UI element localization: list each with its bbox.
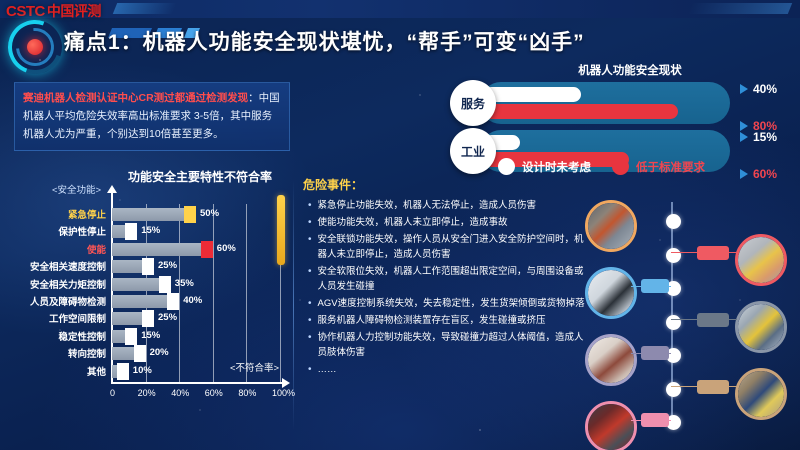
x-tick-label: 0 [110,388,115,398]
status-white-value: 40% [753,82,777,96]
status-red-value: 60% [753,167,777,181]
danger-event-item: •服务机器人障碍物检测装置存在盲区，发生碰撞或挤压 [308,313,590,328]
bullet-icon: • [308,215,312,230]
status-values-industrial: 15% 60% [740,126,800,184]
bar-chart-row: 保护性停止15% [8,223,288,240]
bar-category-label: 人员及障碍物检测 [30,294,106,308]
bar-segment [112,295,167,308]
bar-value-label: 50% [200,208,219,219]
photo-medical-device[interactable] [585,334,637,386]
bar-end-cap [125,223,137,240]
slide-canvas: CSTC中国评测 痛点1：机器人功能安全现状堪忧，“帮手”可变“凶手” 赛迪机器… [0,0,800,450]
emblem-core-dot [27,39,43,55]
page-title: 痛点1：机器人功能安全现状堪忧，“帮手”可变“凶手” [64,26,585,56]
danger-event-text: 使能功能失效，机器人未立即停止，造成事故 [318,215,508,230]
danger-event-text: 紧急停止功能失效，机器人无法停止，造成人员伤害 [318,198,537,213]
photo-image [738,237,784,283]
bar-chart-row: 安全相关速度控制25% [8,258,288,275]
legend-swatch-white [498,158,515,175]
photo-agv-warehouse[interactable] [735,301,787,353]
danger-event-text: 协作机器人力控制功能失效，导致碰撞力超过人体阈值，造成人员肢体伤害 [318,330,590,360]
photo-robot-arm-white[interactable] [585,267,637,319]
triangle-marker-icon [740,169,748,179]
yellow-accent-bar [277,195,285,265]
bar-segment [112,208,184,221]
timeline-connector [631,219,671,220]
bar-end-cap [142,310,154,327]
bar-category-label: 紧急停止 [68,207,106,221]
bar-end-cap [201,241,213,258]
status-chart-title: 机器人功能安全现状 [540,62,720,78]
danger-event-item: •使能功能失效，机器人未立即停止，造成事故 [308,215,590,230]
timeline-connector [671,319,737,320]
status-value-white-service: 40% [740,78,800,99]
x-tick-label: 20% [138,388,156,398]
timeline-node[interactable] [666,315,681,330]
bar-end-cap [117,363,129,380]
bar-chart-row: 安全相关力矩控制35% [8,276,288,293]
photo-timeline [585,192,800,442]
bar-segment [112,260,142,273]
bar-chart: <安全功能> 紧急停止50%保护性停止15%使能60%安全相关速度控制25%安全… [8,182,288,422]
bullet-icon: • [308,330,312,360]
bar-value-label: 20% [150,347,169,358]
bar-category-label: 保护性停止 [58,224,106,238]
logo-chinese-text: 中国评测 [47,3,101,19]
status-value-red-industrial: 60% [740,163,800,184]
bar-chart-row: 紧急停止50% [8,206,288,223]
status-white-bar [484,87,581,102]
header-decoration-left [113,3,177,14]
danger-event-text: …… [318,362,337,377]
bar-chart-y-axis-label: <安全功能> [52,182,101,196]
danger-events-list: •紧急停止功能失效，机器人无法停止，造成人员伤害•使能功能失效，机器人未立即停止… [308,198,590,379]
bar-segment [112,225,125,238]
danger-event-text: 服务机器人障碍物检测装置存在盲区，发生碰撞或挤压 [318,313,546,328]
bar-category-label: 工作空间限制 [49,311,106,325]
bar-end-cap [134,345,146,362]
photo-image [588,337,634,383]
photo-image [588,203,634,249]
danger-event-text: 安全联锁功能失效，操作人员从安全门进入安全防护空间时，机器人未立即停止，造成人员… [318,232,590,262]
x-tick-label: 100% [272,388,295,398]
target-emblem-icon [8,20,62,74]
bar-category-label: 使能 [87,242,106,256]
photo-image [588,404,634,450]
x-tick-label: 40% [171,388,189,398]
bar-chart-row: 稳定性控制15% [8,328,288,345]
danger-event-item: •协作机器人力控制功能失效，导致碰撞力超过人体阈值，造成人员肢体伤害 [308,330,590,360]
timeline-connector [671,386,737,387]
bar-value-label: 35% [175,278,194,289]
photo-machinery-red[interactable] [585,401,637,450]
bullet-icon: • [308,296,312,311]
danger-event-item: •…… [308,362,590,377]
timeline-connector [671,252,737,253]
vertical-divider [293,180,294,430]
bar-end-cap [159,276,171,293]
photo-image [738,304,784,350]
bar-value-label: 15% [141,330,160,341]
bullet-icon: • [308,264,312,294]
danger-event-text: 安全软限位失效，机器人工作范围超出限定空间，与周围设备或人员发生碰撞 [318,264,590,294]
status-row-service: 服务 [450,82,730,124]
bar-end-cap [167,293,179,310]
bar-segment [112,330,125,343]
danger-events-title: 危险事件： [303,176,363,193]
bar-segment [112,312,142,325]
timeline-node[interactable] [666,382,681,397]
bar-segment [112,347,134,360]
danger-event-item: •安全软限位失效，机器人工作范围超出限定空间，与周围设备或人员发生碰撞 [308,264,590,294]
bar-segment [112,278,159,291]
timeline-node[interactable] [666,248,681,263]
bar-value-label: 10% [133,365,152,376]
bar-category-label: 其他 [87,364,106,378]
danger-event-item: •安全联锁功能失效，操作人员从安全门进入安全防护空间时，机器人未立即停止，造成人… [308,232,590,262]
danger-event-text: AGV速度控制系统失效，失去稳定性，发生货架倾倒或货物掉落 [318,296,585,311]
bar-value-label: 40% [183,295,202,306]
danger-event-item: •紧急停止功能失效，机器人无法停止，造成人员伤害 [308,198,590,213]
danger-event-item: •AGV速度控制系统失效，失去稳定性，发生货架倾倒或货物掉落 [308,296,590,311]
callout-highlight: 赛迪机器人检测认证中心CR测过都通过检测发现 [23,92,248,104]
legend-label-not-considered: 设计时未考虑 [522,159,591,175]
x-tick-label: 80% [238,388,256,398]
legend-label-below-standard: 低于标准要求 [636,159,705,175]
bar-chart-row: 人员及障碍物检测40% [8,293,288,310]
photo-hand-tool[interactable] [735,234,787,286]
bar-value-label: 25% [158,312,177,323]
callout-box: 赛迪机器人检测认证中心CR测过都通过检测发现：中国机器人平均危险失效率高出标准要… [14,82,290,151]
photo-service-robot[interactable] [735,368,787,420]
timeline-connector [631,420,671,421]
bar-chart-row: 工作空间限制25% [8,310,288,327]
bar-segment [112,243,201,256]
bar-category-label: 稳定性控制 [58,329,106,343]
bar-end-cap [184,206,196,223]
status-red-bar [484,104,678,119]
bullet-icon: • [308,362,312,377]
bar-value-label: 15% [141,225,160,236]
photo-image [738,371,784,417]
bar-category-label: 转向控制 [68,346,106,360]
bar-category-label: 安全相关速度控制 [30,259,106,273]
status-chart-legend: 设计时未考虑 低于标准要求 [498,158,705,175]
bar-end-cap [125,328,137,345]
triangle-marker-icon [740,132,748,142]
bar-chart-row: 使能60% [8,241,288,258]
bullet-icon: • [308,232,312,262]
x-tick-label: 60% [205,388,223,398]
bar-value-label: 60% [217,243,236,254]
timeline-connector [631,353,671,354]
status-value-white-industrial: 15% [740,126,800,147]
status-row-label-industrial: 工业 [450,128,496,174]
triangle-marker-icon [740,84,748,94]
legend-swatch-red [612,158,629,175]
photo-robot-cell[interactable] [585,200,637,252]
header-decoration-right [688,3,792,14]
bullet-icon: • [308,198,312,213]
bar-chart-x-axis [111,382,283,384]
bar-category-label: 安全相关力矩控制 [30,277,106,291]
bar-chart-x-axis-label: <不符合率> [230,360,279,374]
photo-image [588,270,634,316]
timeline-connector [631,286,671,287]
status-white-value: 15% [753,130,777,144]
bar-end-cap [142,258,154,275]
status-row-label-service: 服务 [450,80,496,126]
bullet-icon: • [308,313,312,328]
bar-value-label: 25% [158,260,177,271]
